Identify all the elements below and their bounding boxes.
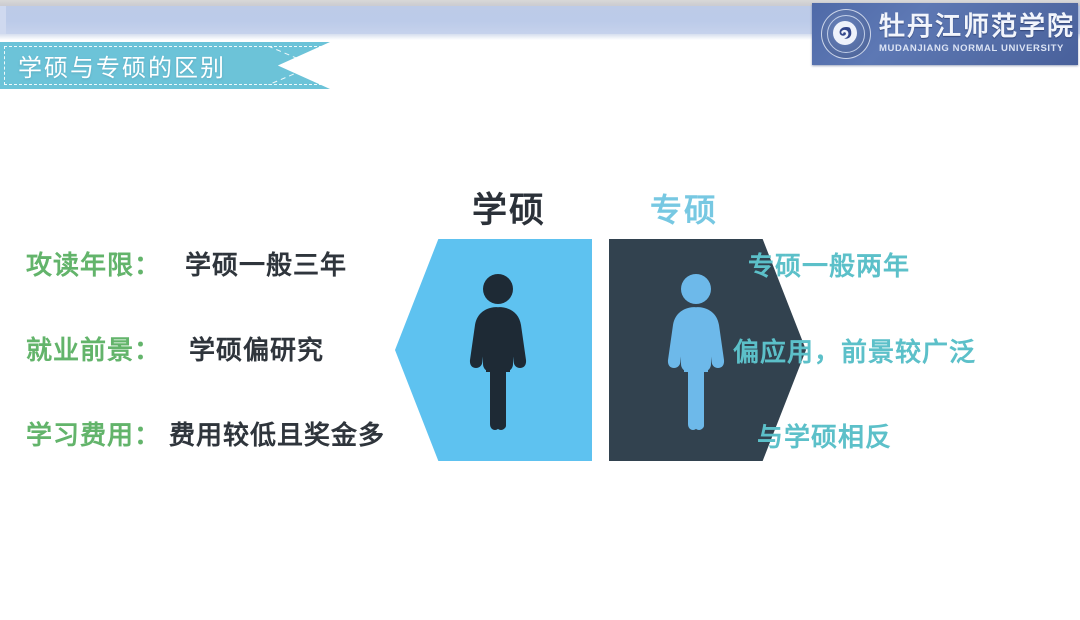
comparison-row: 就业前景： 学硕偏研究 [26,330,324,367]
row-label-duration: 攻读年限： [26,245,161,282]
university-logo: 牡丹江师范学院 MUDANJIANG NORMAL UNIVERSITY [812,3,1078,65]
column-heading-left: 学硕 [472,182,546,233]
row-value-duration-left: 学硕一般三年 [185,245,347,282]
row-value-cost-left: 费用较低且奖金多 [169,415,385,452]
logo-name-en: MUDANJIANG NORMAL UNIVERSITY [879,44,1075,54]
slide-canvas: 牡丹江师范学院 MUDANJIANG NORMAL UNIVERSITY 学硕与… [0,0,1080,620]
page-title: 学硕与专硕的区别 [18,42,226,89]
row-value-prospects-right: 偏应用，前景较广泛 [733,332,976,369]
comparison-row: 攻读年限： 学硕一般三年 [26,245,347,282]
row-label-prospects: 就业前景： [26,330,161,367]
row-value-prospects-left: 学硕偏研究 [189,330,324,367]
seal-emblem-icon [831,19,859,47]
row-value-cost-right: 与学硕相反 [757,417,892,454]
university-seal-icon [821,9,871,59]
comparison-row: 学习费用： 费用较低且奖金多 [26,415,385,452]
row-value-duration-right: 专硕一般两年 [748,246,910,283]
top-bar-left-nub [0,6,6,34]
person-icon [461,272,535,432]
person-icon [659,272,733,432]
row-label-cost: 学习费用： [26,415,161,452]
logo-name-cn: 牡丹江师范学院 [879,14,1075,40]
column-heading-right: 专硕 [650,185,718,231]
